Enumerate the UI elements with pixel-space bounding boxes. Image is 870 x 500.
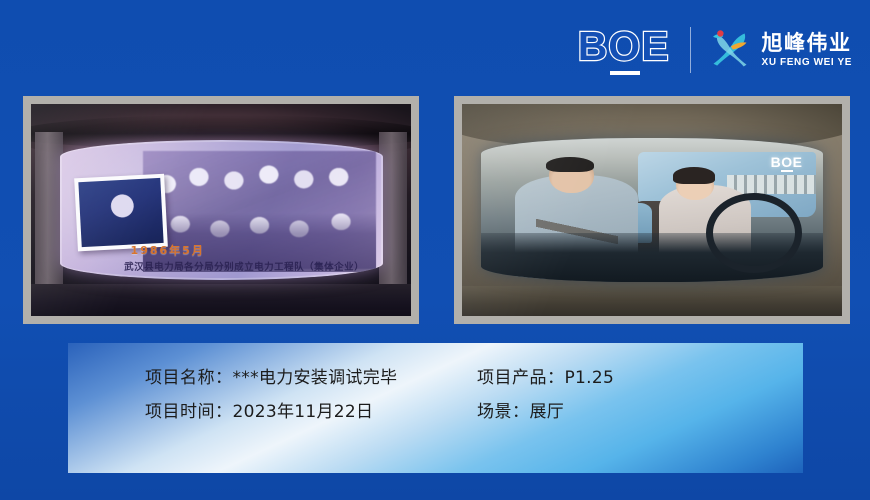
slide-canvas: BOE 旭峰伟业 XU FENG WEI YE bbox=[0, 0, 870, 500]
photo-left-image: 1986年5月 武汉县电力局各分局分别成立电力工程队（集体企业） bbox=[31, 104, 411, 316]
photo-left[interactable]: 1986年5月 武汉县电力局各分局分别成立电力工程队（集体企业） bbox=[23, 96, 419, 324]
floor bbox=[462, 286, 842, 316]
curved-led-screen: 1986年5月 武汉县电力局各分局分别成立电力工程队（集体企业） bbox=[60, 140, 383, 280]
screen-caption-text: 武汉县电力局各分局分别成立电力工程队（集体企业） bbox=[124, 259, 364, 273]
info-row-project-date: 项目时间：2023年11月22日 bbox=[145, 395, 477, 429]
project-info-panel: 项目名称：***电力安装调试完毕 项目时间：2023年11月22日 项目产品：P… bbox=[68, 343, 803, 473]
info-row-product: 项目产品：P1.25 bbox=[477, 361, 614, 395]
boe-logo: BOE bbox=[578, 26, 690, 75]
inset-photo-frame bbox=[74, 174, 168, 251]
info-columns: 项目名称：***电力安装调试完毕 项目时间：2023年11月22日 项目产品：P… bbox=[68, 343, 803, 473]
floor bbox=[31, 284, 411, 316]
value-project-date: 2023年11月22日 bbox=[233, 402, 374, 422]
photo-right[interactable]: BOE bbox=[454, 96, 850, 324]
label-scene: 场景： bbox=[477, 402, 530, 422]
stylized-x-bird-icon bbox=[707, 28, 753, 72]
road-barrier bbox=[727, 175, 816, 194]
value-scene: 展厅 bbox=[530, 402, 565, 422]
screen-caption-year: 1986年5月 bbox=[131, 242, 205, 258]
boe-wordmark: BOE bbox=[578, 26, 670, 67]
label-project-name: 项目名称： bbox=[145, 368, 233, 388]
logo-divider bbox=[690, 27, 691, 73]
info-row-scene: 场景：展厅 bbox=[477, 395, 614, 429]
xufengweiye-pinyin: XU FENG WEI YE bbox=[762, 58, 852, 68]
label-project-date: 项目时间： bbox=[145, 402, 233, 422]
woman-hair bbox=[673, 167, 716, 184]
boe-underline-accent bbox=[610, 71, 640, 75]
info-row-project-name: 项目名称：***电力安装调试完毕 bbox=[145, 361, 477, 395]
xufengweiye-logo: 旭峰伟业 XU FENG WEI YE bbox=[707, 28, 852, 72]
pillar-right bbox=[379, 132, 408, 302]
value-product: P1.25 bbox=[565, 368, 615, 388]
man-hair bbox=[546, 157, 594, 173]
boe-watermark-on-screen: BOE bbox=[771, 154, 803, 170]
xufengweiye-text: 旭峰伟业 XU FENG WEI YE bbox=[762, 32, 852, 67]
logo-bar: BOE 旭峰伟业 XU FENG WEI YE bbox=[578, 22, 852, 78]
xufengweiye-chinese: 旭峰伟业 bbox=[762, 32, 852, 54]
value-project-name: ***电力安装调试完毕 bbox=[233, 368, 398, 388]
label-product: 项目产品： bbox=[477, 368, 565, 388]
curved-led-screen: BOE bbox=[481, 138, 823, 282]
photo-right-image: BOE bbox=[462, 104, 842, 316]
info-column-left: 项目名称：***电力安装调试完毕 项目时间：2023年11月22日 bbox=[145, 361, 477, 473]
info-column-right: 项目产品：P1.25 场景：展厅 bbox=[477, 361, 614, 473]
car-interior-scene: BOE bbox=[481, 138, 823, 282]
